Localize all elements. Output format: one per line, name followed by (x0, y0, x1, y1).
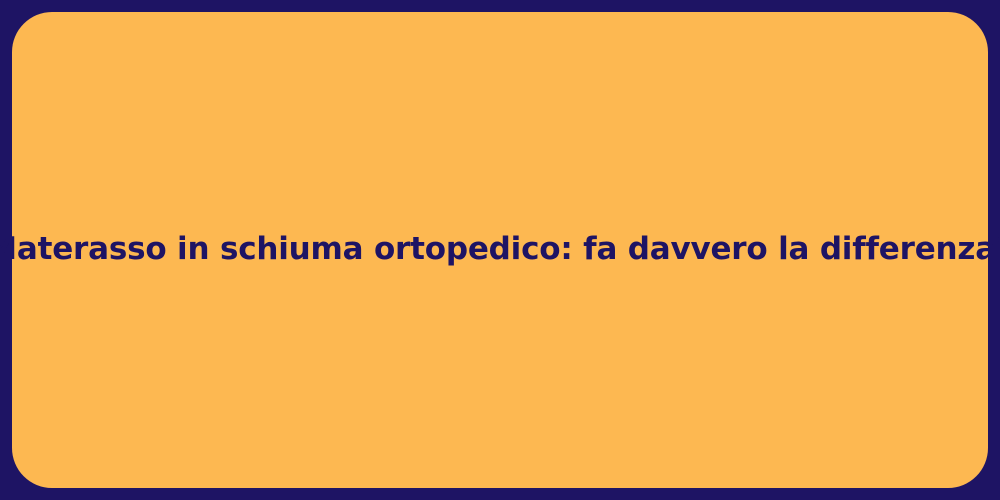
page-title: Materasso in schiuma ortopedico: fa davv… (0, 230, 1000, 270)
article-card-frame: Materasso in schiuma ortopedico: fa davv… (0, 0, 1000, 500)
article-card-panel: Materasso in schiuma ortopedico: fa davv… (12, 12, 988, 488)
